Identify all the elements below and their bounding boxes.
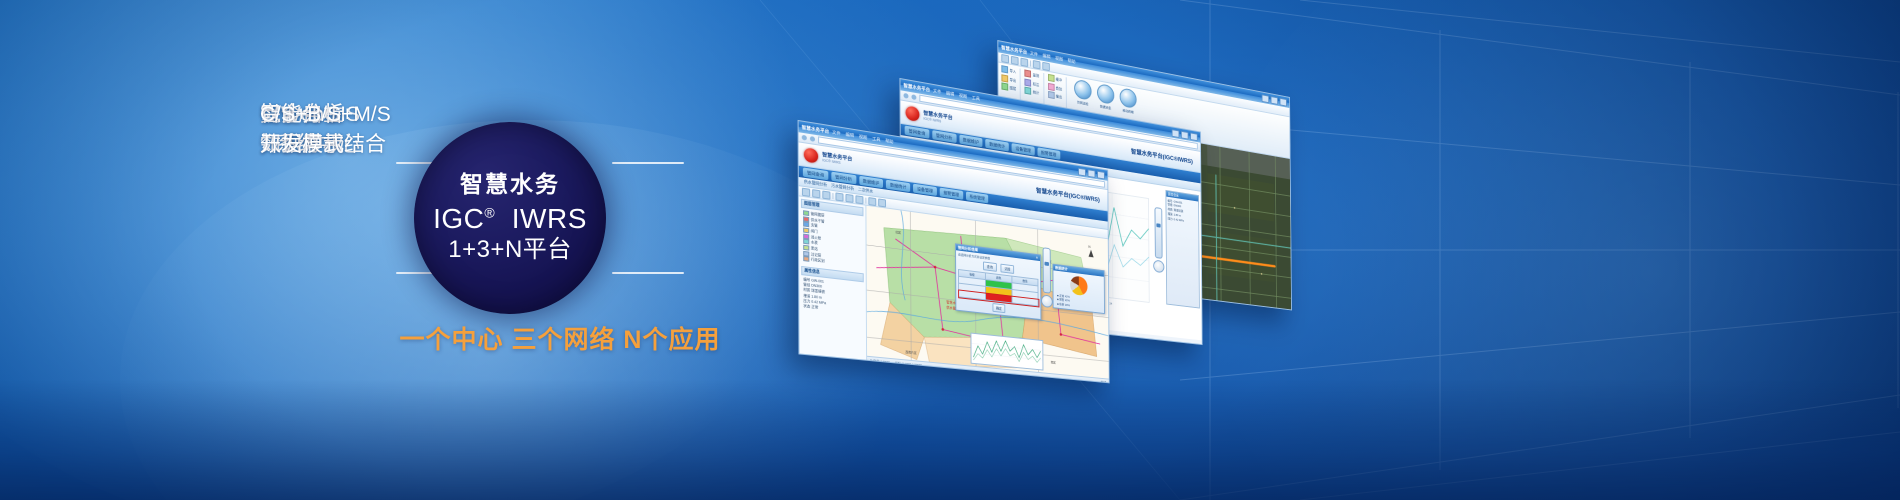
measure-icon bbox=[845, 193, 853, 202]
subnav-item[interactable]: 二次供水 bbox=[858, 187, 873, 194]
hub-circle: 智慧水务 IGC® IWRS 1+3+N平台 bbox=[414, 122, 606, 314]
ribbon-item[interactable]: 导出 bbox=[1010, 76, 1017, 82]
zoom-slider-knob bbox=[1156, 223, 1160, 227]
pan-icon bbox=[802, 187, 810, 196]
status-ready: 就绪 bbox=[1101, 380, 1106, 384]
status-coords: 坐标 X:4021 Y:3388 bbox=[895, 360, 922, 367]
status-scale: 比例尺 1:2000 bbox=[870, 358, 890, 365]
back-icon bbox=[802, 135, 807, 141]
separator bbox=[1030, 60, 1031, 66]
close-icon[interactable]: ✕ bbox=[1036, 256, 1039, 260]
tagline: 一个中心 三个网络 N个应用 bbox=[300, 320, 820, 356]
svg-text:南区: 南区 bbox=[1051, 359, 1056, 364]
query-button[interactable]: 查询 bbox=[983, 261, 996, 271]
menu-item[interactable]: 编辑 bbox=[1043, 52, 1051, 60]
menu-item[interactable]: 工具 bbox=[872, 135, 880, 142]
layers-icon bbox=[878, 198, 886, 207]
clear-button[interactable]: 清除 bbox=[1001, 264, 1014, 274]
zoom-slider[interactable] bbox=[1155, 207, 1163, 259]
statistics-panel[interactable]: 数据统计 ■ 正常 42% ■ 预警 22% ■ 检修 18% bbox=[1052, 264, 1104, 315]
menu-item[interactable]: 工具 bbox=[972, 94, 980, 101]
property-list: 编号 GW-001 管径 DN300 材质 球墨铸铁 埋深 1.80 m 压力 … bbox=[801, 277, 864, 316]
big-button-label: 数据采集 bbox=[1097, 103, 1114, 111]
menu-item[interactable]: 视图 bbox=[1055, 55, 1063, 62]
open-icon bbox=[1011, 55, 1019, 65]
ribbon-item[interactable]: 导入 bbox=[1010, 68, 1017, 74]
app-title-front: 智慧水务平台(IGC®IWRS) bbox=[1036, 185, 1100, 203]
annotate-icon bbox=[1025, 78, 1032, 86]
banner-stage: 完全自主 知识产权 以WebGIS 系统中心 智能分析 数据展示 C/S+B/S… bbox=[0, 0, 1900, 500]
ribbon-item[interactable]: 缓冲 bbox=[1056, 76, 1062, 82]
minimize-icon bbox=[1172, 129, 1180, 138]
menu-item[interactable]: 编辑 bbox=[846, 131, 854, 138]
print-icon bbox=[1033, 59, 1041, 68]
feature-bottom-right-line1: C/S+B/S+M/S bbox=[260, 100, 391, 130]
ribbon-item[interactable]: 叠加 bbox=[1056, 85, 1062, 91]
feature-bottom-right: C/S+B/S+M/S 开发模式结合 bbox=[260, 100, 391, 160]
hub-subtitle: 1+3+N平台 bbox=[448, 237, 572, 264]
brand-text: 智慧水务平台 IGC® IWRS bbox=[822, 152, 852, 167]
close-icon bbox=[1190, 132, 1198, 141]
layer-icon bbox=[1001, 82, 1008, 90]
map-zoom-slider[interactable] bbox=[1043, 247, 1051, 293]
collection-icon bbox=[1097, 83, 1114, 105]
subnav-item[interactable]: 污水管网分析 bbox=[831, 183, 854, 191]
layer-tree[interactable]: 管网图层 供水干管 支管 阀门 消火栓 水表 泵站 注记层 行政区划 bbox=[801, 210, 864, 269]
statistics-icon bbox=[1025, 87, 1032, 95]
new-icon bbox=[1001, 53, 1009, 63]
analysis-dialog-body: 请选择分析方式并设定参数 查询 清除 等级 颜色 数值 bbox=[956, 250, 1040, 319]
ribbon-item[interactable]: 输出 bbox=[1056, 93, 1062, 99]
print-icon bbox=[868, 197, 876, 206]
minimize-icon bbox=[1262, 94, 1269, 103]
app-title-middle: 智慧水务平台(IGC®IWRS) bbox=[1131, 146, 1193, 165]
big-button-mobile[interactable]: 移动终端 bbox=[1119, 87, 1136, 115]
forward-icon bbox=[911, 94, 916, 100]
big-button-collection[interactable]: 数据采集 bbox=[1097, 83, 1114, 111]
screenshot-stack: 智慧水务平台 文件 编辑 视图 帮助 导入 导出 图层 bbox=[780, 40, 1900, 470]
registered-mark-icon: ® bbox=[484, 204, 495, 220]
map-pan-pad[interactable] bbox=[1041, 294, 1053, 308]
menu-item[interactable]: 文件 bbox=[933, 87, 941, 94]
export-icon bbox=[1001, 74, 1008, 82]
menu-item[interactable]: 视图 bbox=[959, 92, 967, 99]
measure-icon bbox=[1025, 69, 1032, 77]
back-icon bbox=[903, 93, 908, 99]
menu-item[interactable]: 视图 bbox=[859, 133, 867, 140]
overlay-icon bbox=[1048, 82, 1055, 90]
pie-legend: ■ 正常 42% ■ 预警 22% ■ 检修 18% bbox=[1055, 293, 1102, 311]
mini-trend-chart[interactable] bbox=[970, 333, 1043, 371]
close-icon bbox=[1280, 97, 1287, 106]
brand-text: 智慧水务平台 IGC® IWRS bbox=[923, 110, 952, 125]
minimize-icon bbox=[1078, 167, 1086, 176]
buffer-icon bbox=[1048, 74, 1055, 82]
svg-text:24: 24 bbox=[1109, 301, 1112, 305]
save-icon bbox=[1020, 57, 1028, 67]
company-logo-icon bbox=[906, 105, 920, 122]
zoom-in-icon bbox=[812, 189, 820, 198]
confirm-button[interactable]: 确定 bbox=[992, 303, 1005, 313]
inspection-icon bbox=[1074, 79, 1092, 101]
connector-top-right bbox=[612, 162, 684, 164]
hub-chinese-title: 智慧水务 bbox=[460, 172, 560, 198]
hub-igc-text: IGC bbox=[433, 203, 484, 234]
output-icon bbox=[1048, 91, 1055, 99]
zoom-out-icon bbox=[822, 190, 830, 199]
ribbon-item[interactable]: 标注 bbox=[1033, 81, 1039, 87]
ribbon-item[interactable]: 图层 bbox=[1010, 85, 1017, 91]
identify-icon bbox=[855, 195, 863, 204]
select-icon bbox=[835, 192, 843, 201]
mini-chart-canvas bbox=[971, 334, 1042, 370]
ribbon-item[interactable]: 统计 bbox=[1033, 89, 1039, 95]
menu-item[interactable]: 编辑 bbox=[946, 90, 954, 97]
maximize-icon bbox=[1181, 130, 1189, 139]
separator bbox=[865, 197, 866, 203]
window-middle-side-panel[interactable]: 属性信息 编号: GW-001 管径: DN300 材质: 球墨铸铁 埋深: 1… bbox=[1165, 190, 1199, 309]
maximize-icon bbox=[1088, 169, 1096, 178]
menu-item[interactable]: 帮助 bbox=[885, 137, 893, 144]
layer-tree-pane[interactable]: 图层管理 管网图层 供水干管 支管 阀门 消火栓 水表 泵站 注记层 行政区划 … bbox=[799, 196, 867, 363]
feature-bottom-right-line2: 开发模式结合 bbox=[260, 130, 391, 160]
big-button-label: 管网巡检 bbox=[1074, 99, 1091, 107]
big-button-inspection[interactable]: 管网巡检 bbox=[1074, 79, 1092, 107]
statistics-panel-body: ■ 正常 42% ■ 预警 22% ■ 检修 18% bbox=[1053, 270, 1104, 313]
map-zoom-slider-knob bbox=[1044, 262, 1048, 266]
ribbon-item[interactable]: 量测 bbox=[1033, 72, 1039, 78]
hub-iwrs-text: IWRS bbox=[512, 203, 587, 234]
maximize-icon bbox=[1271, 96, 1278, 105]
forward-icon bbox=[810, 136, 815, 142]
analysis-dialog[interactable]: 管网分析结果 ✕ 请选择分析方式并设定参数 查询 清除 等级 bbox=[955, 243, 1041, 320]
menu-item[interactable]: 帮助 bbox=[1068, 57, 1076, 64]
undo-icon bbox=[1042, 61, 1050, 70]
menu-item[interactable]: 文件 bbox=[1030, 50, 1038, 58]
menu-item[interactable]: 文件 bbox=[832, 129, 840, 136]
svg-text:北区: 北区 bbox=[895, 229, 901, 235]
mobile-icon bbox=[1119, 87, 1136, 109]
company-logo-icon bbox=[804, 147, 818, 163]
import-icon bbox=[1001, 65, 1008, 73]
connector-bottom-right bbox=[612, 272, 684, 274]
big-button-label: 移动终端 bbox=[1120, 107, 1137, 115]
side-panel-rows: 编号: GW-001 管径: DN300 材质: 球墨铸铁 埋深: 1.80 m… bbox=[1166, 197, 1198, 227]
separator bbox=[832, 192, 833, 198]
pie-chart bbox=[1070, 275, 1088, 296]
close-icon bbox=[1097, 170, 1105, 179]
hub-english-title: IGC® IWRS bbox=[433, 203, 587, 234]
